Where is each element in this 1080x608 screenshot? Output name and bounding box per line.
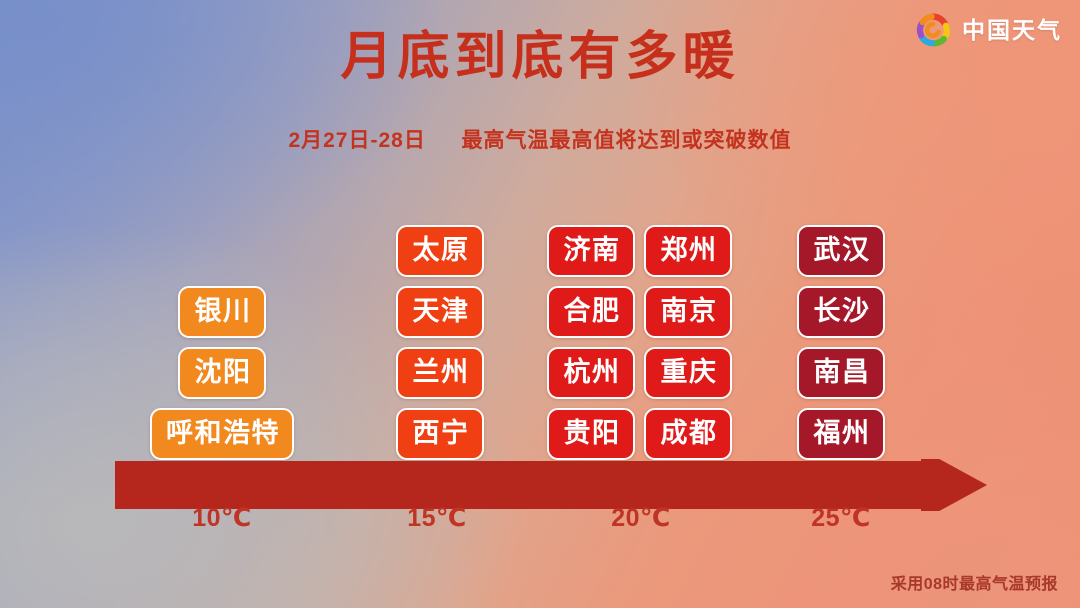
axis-tick-15c: 15℃ (407, 503, 467, 533)
city-chip: 南京 (644, 286, 732, 338)
city-group-10c: 银川 沈阳 呼和浩特 (150, 286, 294, 460)
city-groups: 银川 沈阳 呼和浩特 太原 天津 兰州 西宁 济南 合肥 杭州 贵阳 郑州 南京 (0, 206, 1080, 460)
city-chip: 成都 (644, 408, 732, 460)
page-title: 月底到底有多暖 (0, 26, 1080, 88)
city-chip: 贵阳 (547, 408, 635, 460)
city-chip: 兰州 (396, 347, 484, 399)
city-group-20c-column-left: 济南 合肥 杭州 贵阳 (547, 225, 635, 460)
axis-tick-25c: 25℃ (811, 503, 871, 533)
city-group-10c-column: 银川 沈阳 呼和浩特 (150, 286, 294, 460)
city-chip: 太原 (396, 225, 484, 277)
infographic-canvas: 中国天气 月底到底有多暖 2月27日-28日 最高气温最高值将达到或突破数值 银… (0, 0, 1080, 608)
axis-tick-labels: 10℃ 15℃ 20℃ 25℃ (0, 503, 1080, 541)
city-chip: 重庆 (644, 347, 732, 399)
city-group-20c: 济南 合肥 杭州 贵阳 郑州 南京 重庆 成都 (547, 225, 732, 460)
axis-tick-10c: 10℃ (192, 503, 252, 533)
city-chip: 天津 (396, 286, 484, 338)
city-chip: 济南 (547, 225, 635, 277)
city-chip: 合肥 (547, 286, 635, 338)
city-chip: 呼和浩特 (150, 408, 294, 460)
subtitle-detail: 最高气温最高值将达到或突破数值 (462, 129, 792, 152)
subtitle-date-range: 2月27日-28日 (288, 129, 425, 152)
page-subtitle: 2月27日-28日 最高气温最高值将达到或突破数值 (0, 128, 1080, 153)
city-group-25c: 武汉 长沙 南昌 福州 (797, 225, 885, 460)
city-chip: 郑州 (644, 225, 732, 277)
city-chip: 武汉 (797, 225, 885, 277)
city-chip: 沈阳 (178, 347, 266, 399)
city-chip: 西宁 (396, 408, 484, 460)
footnote: 采用08时最高气温预报 (891, 575, 1058, 594)
city-chip: 银川 (178, 286, 266, 338)
city-chip: 南昌 (797, 347, 885, 399)
city-chip: 长沙 (797, 286, 885, 338)
city-group-15c: 太原 天津 兰州 西宁 (396, 225, 484, 460)
axis-tick-20c: 20℃ (611, 503, 671, 533)
city-chip: 福州 (797, 408, 885, 460)
city-chip: 杭州 (547, 347, 635, 399)
city-group-20c-column-right: 郑州 南京 重庆 成都 (644, 225, 732, 460)
city-group-15c-column: 太原 天津 兰州 西宁 (396, 225, 484, 460)
city-group-25c-column: 武汉 长沙 南昌 福州 (797, 225, 885, 460)
